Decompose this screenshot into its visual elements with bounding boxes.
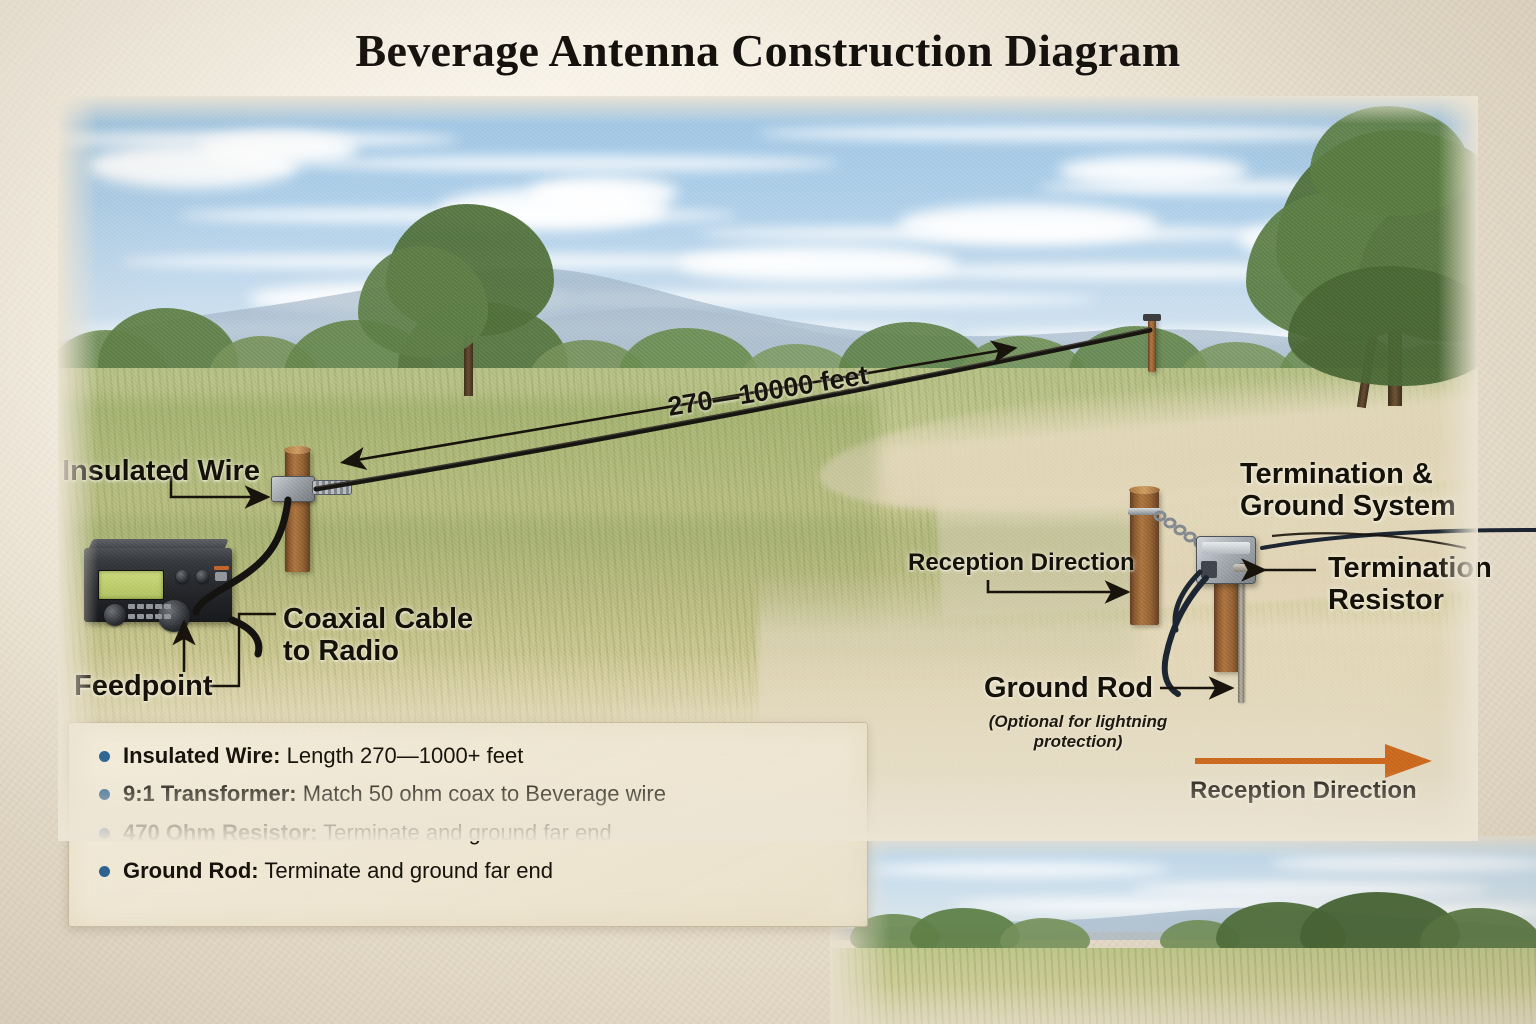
legend-term: Insulated Wire: [123, 743, 281, 768]
bullet-icon [99, 751, 110, 762]
bullet-icon [99, 789, 110, 800]
legend-desc: Terminate and ground far end [264, 858, 553, 883]
legend-term: 470 Ohm Resistor: [123, 820, 317, 845]
distant-post-icon [1148, 318, 1156, 372]
legend-term: Ground Rod: [123, 858, 259, 883]
label-termination-resistor: Termination Resistor [1328, 552, 1492, 617]
coax-connector-icon [312, 480, 352, 495]
list-item: Insulated Wire: Length 270—1000+ feet [99, 743, 841, 769]
transceiver-icon [84, 548, 232, 622]
label-reception-direction-arrow: Reception Direction [1190, 778, 1417, 805]
legend-panel: Insulated Wire: Length 270—1000+ feet 9:… [68, 722, 868, 927]
legend-term: 9:1 Transformer: [123, 781, 297, 806]
wooden-post-near [285, 450, 310, 572]
label-coaxial-cable: Coaxial Cable to Radio [283, 603, 473, 668]
bottom-landscape-vignette [830, 836, 1536, 1024]
termination-box-icon [1196, 536, 1256, 584]
diagram-page: Beverage Antenna Construction Diagram [0, 0, 1536, 1024]
label-ground-rod-note: (Optional for lightning protection) [968, 712, 1188, 752]
bullet-icon [99, 828, 110, 839]
label-insulated-wire: Insulated Wire [62, 455, 260, 487]
transformer-box-icon [271, 476, 315, 502]
label-termination-ground-system: Termination & Ground System [1240, 458, 1456, 523]
list-item: 470 Ohm Resistor: Terminate and ground f… [99, 820, 841, 846]
ground-rod-icon [1238, 568, 1244, 703]
legend-desc: Match 50 ohm coax to Beverage wire [303, 781, 666, 806]
label-ground-rod: Ground Rod [984, 672, 1153, 704]
label-reception-direction-field: Reception Direction [908, 550, 1135, 577]
legend-desc: Terminate and ground far end [323, 820, 612, 845]
list-item: 9:1 Transformer: Match 50 ohm coax to Be… [99, 781, 841, 807]
bullet-icon [99, 866, 110, 877]
list-item: Ground Rod: Terminate and ground far end [99, 858, 841, 884]
label-feedpoint: Feedpoint [74, 670, 213, 702]
page-title: Beverage Antenna Construction Diagram [0, 24, 1536, 77]
legend-desc: Length 270—1000+ feet [287, 743, 524, 768]
